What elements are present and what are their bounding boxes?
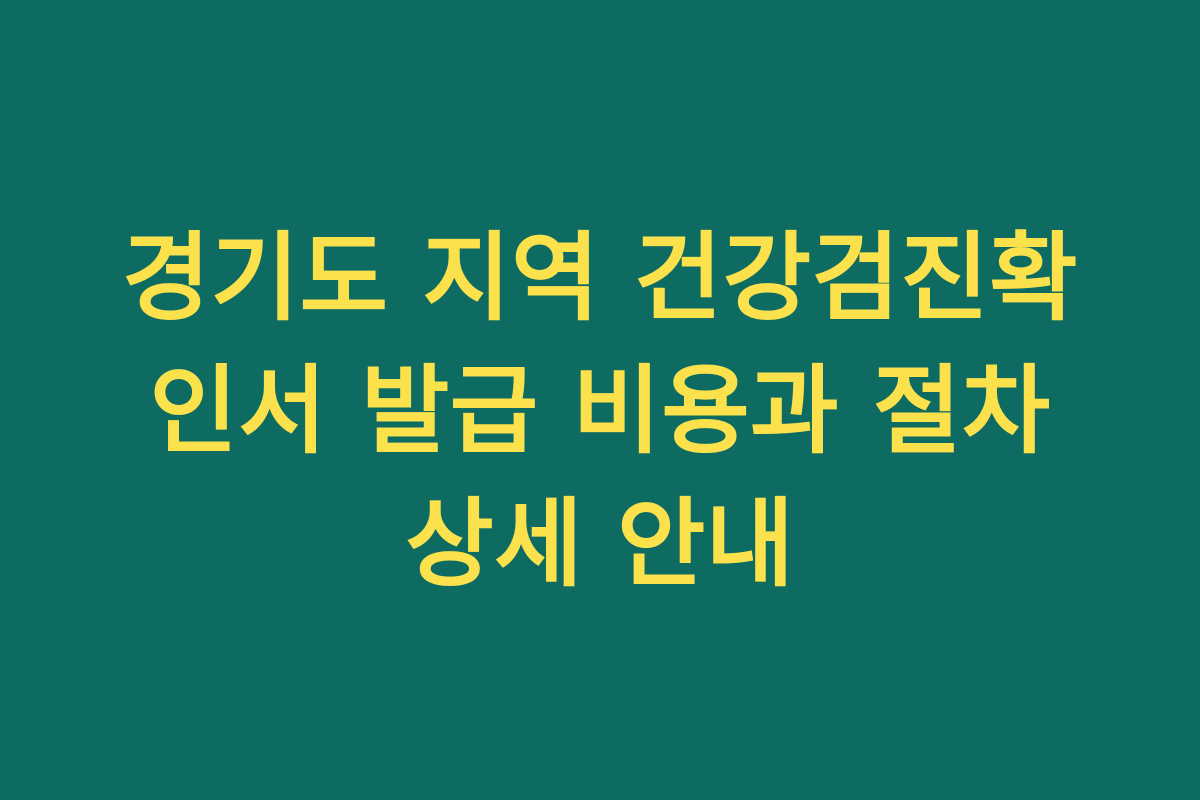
title-line-3: 상세 안내 bbox=[100, 478, 1100, 611]
title-line-2: 인서 발급 비용과 절차 bbox=[100, 345, 1100, 478]
title-card: 경기도 지역 건강검진확 인서 발급 비용과 절차 상세 안내 bbox=[0, 0, 1200, 800]
page-title: 경기도 지역 건강검진확 인서 발급 비용과 절차 상세 안내 bbox=[100, 212, 1100, 611]
title-line-1: 경기도 지역 건강검진확 bbox=[100, 212, 1100, 345]
